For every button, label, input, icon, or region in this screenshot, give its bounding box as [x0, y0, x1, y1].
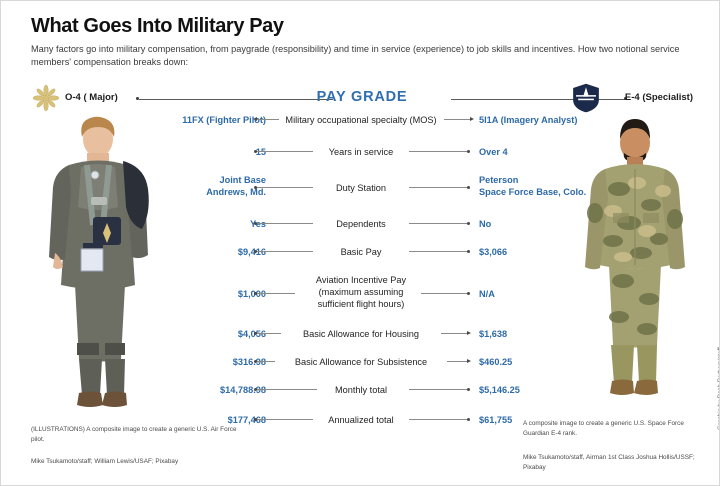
row-value-right: $1,638 — [479, 329, 507, 341]
row-value-right: 5I1A (Imagery Analyst) — [479, 115, 577, 127]
row-connector-left — [257, 223, 313, 224]
arrow-right-icon — [467, 359, 471, 363]
row-label: Duty Station — [249, 183, 473, 195]
row-connector-right — [409, 223, 467, 224]
table-row: $14,788.98 Monthly total $5,146.25 — [1, 381, 720, 411]
infographic-card: What Goes Into Military Pay Many factors… — [0, 0, 720, 486]
row-connector-dot-right — [467, 150, 470, 153]
row-label: Monthly total — [249, 385, 473, 397]
row-connector-right — [421, 293, 467, 294]
caption-left-description: (ILLUSTRATIONS) A composite image to cre… — [31, 425, 246, 445]
row-value-right: $5,146.25 — [479, 385, 520, 397]
row-value-right: No — [479, 219, 491, 231]
row-connector-right — [409, 151, 467, 152]
row-connector-left — [257, 187, 313, 188]
row-connector-right — [444, 119, 470, 120]
row-connector-right — [441, 333, 467, 334]
row-value-right: $61,755 — [479, 415, 512, 427]
row-label: Military occupational specialty (MOS) — [249, 115, 473, 127]
row-connector-left — [257, 119, 279, 120]
row-label: Annualized total — [249, 415, 473, 427]
row-connector-left — [257, 251, 313, 252]
row-connector-left — [257, 419, 313, 420]
row-connector-left — [257, 389, 317, 390]
caption-right-credit: Mike Tsukamoto/staff, Airman 1st Class J… — [523, 453, 698, 473]
row-label: Basic Allowance for Housing — [249, 329, 473, 341]
row-connector-dot-right — [467, 250, 470, 253]
comparison-rows: 11FX (Fighter Pilot) Military occupation… — [1, 113, 720, 439]
table-row: Joint Base Andrews, Md. Duty Station Pet… — [1, 171, 720, 215]
row-connector-right — [409, 389, 467, 390]
row-connector-left — [257, 151, 313, 152]
row-value-right: Over 4 — [479, 147, 508, 159]
row-connector-dot-right — [467, 418, 470, 421]
row-label: Years in service — [249, 147, 473, 159]
row-label: Dependents — [249, 219, 473, 231]
page-title: What Goes Into Military Pay — [31, 15, 284, 38]
row-connector-dot-right — [467, 222, 470, 225]
table-row: 15 Years in service Over 4 — [1, 143, 720, 171]
row-value-right: $3,066 — [479, 247, 507, 259]
row-value-right: N/A — [479, 289, 495, 301]
rank-label-right: E-4 (Specialist) — [625, 92, 693, 103]
paygrade-header: O-4 ( Major) PAY GRADE E-4 (Specialist) — [31, 87, 693, 111]
row-connector-right — [409, 251, 467, 252]
arrow-right-icon — [470, 117, 474, 121]
row-label: Basic Pay — [249, 247, 473, 259]
row-connector-right — [409, 187, 467, 188]
row-connector-dot-right — [467, 388, 470, 391]
row-value-right: $460.25 — [479, 357, 512, 369]
row-connector-dot-right — [467, 292, 470, 295]
row-label: Basic Allowance for Subsistence — [249, 357, 473, 369]
table-row: Yes Dependents No — [1, 215, 720, 243]
row-value-right: Peterson Space Force Base, Colo. — [479, 175, 586, 198]
row-connector-left — [257, 293, 295, 294]
page-subtitle: Many factors go into military compensati… — [31, 43, 691, 70]
row-connector-left — [257, 333, 281, 334]
row-connector-dot-right — [467, 186, 470, 189]
table-row: $9,416 Basic Pay $3,066 — [1, 243, 720, 273]
row-connector-right — [447, 361, 467, 362]
caption-left-credit: Mike Tsukamoto/staff; William Lewis/USAF… — [31, 457, 261, 467]
row-connector-right — [409, 419, 467, 420]
row-connector-left — [257, 361, 275, 362]
table-row: $1,000 Aviation Incentive Pay (maximum a… — [1, 273, 720, 325]
table-row: $4,056 Basic Allowance for Housing $1,63… — [1, 325, 720, 353]
table-row: $316.98 Basic Allowance for Subsistence … — [1, 353, 720, 381]
table-row: 11FX (Fighter Pilot) Military occupation… — [1, 113, 720, 143]
space-force-chevron-insignia — [571, 83, 601, 113]
arrow-right-icon — [467, 331, 471, 335]
caption-right-description: A composite image to create a generic U.… — [523, 419, 698, 439]
